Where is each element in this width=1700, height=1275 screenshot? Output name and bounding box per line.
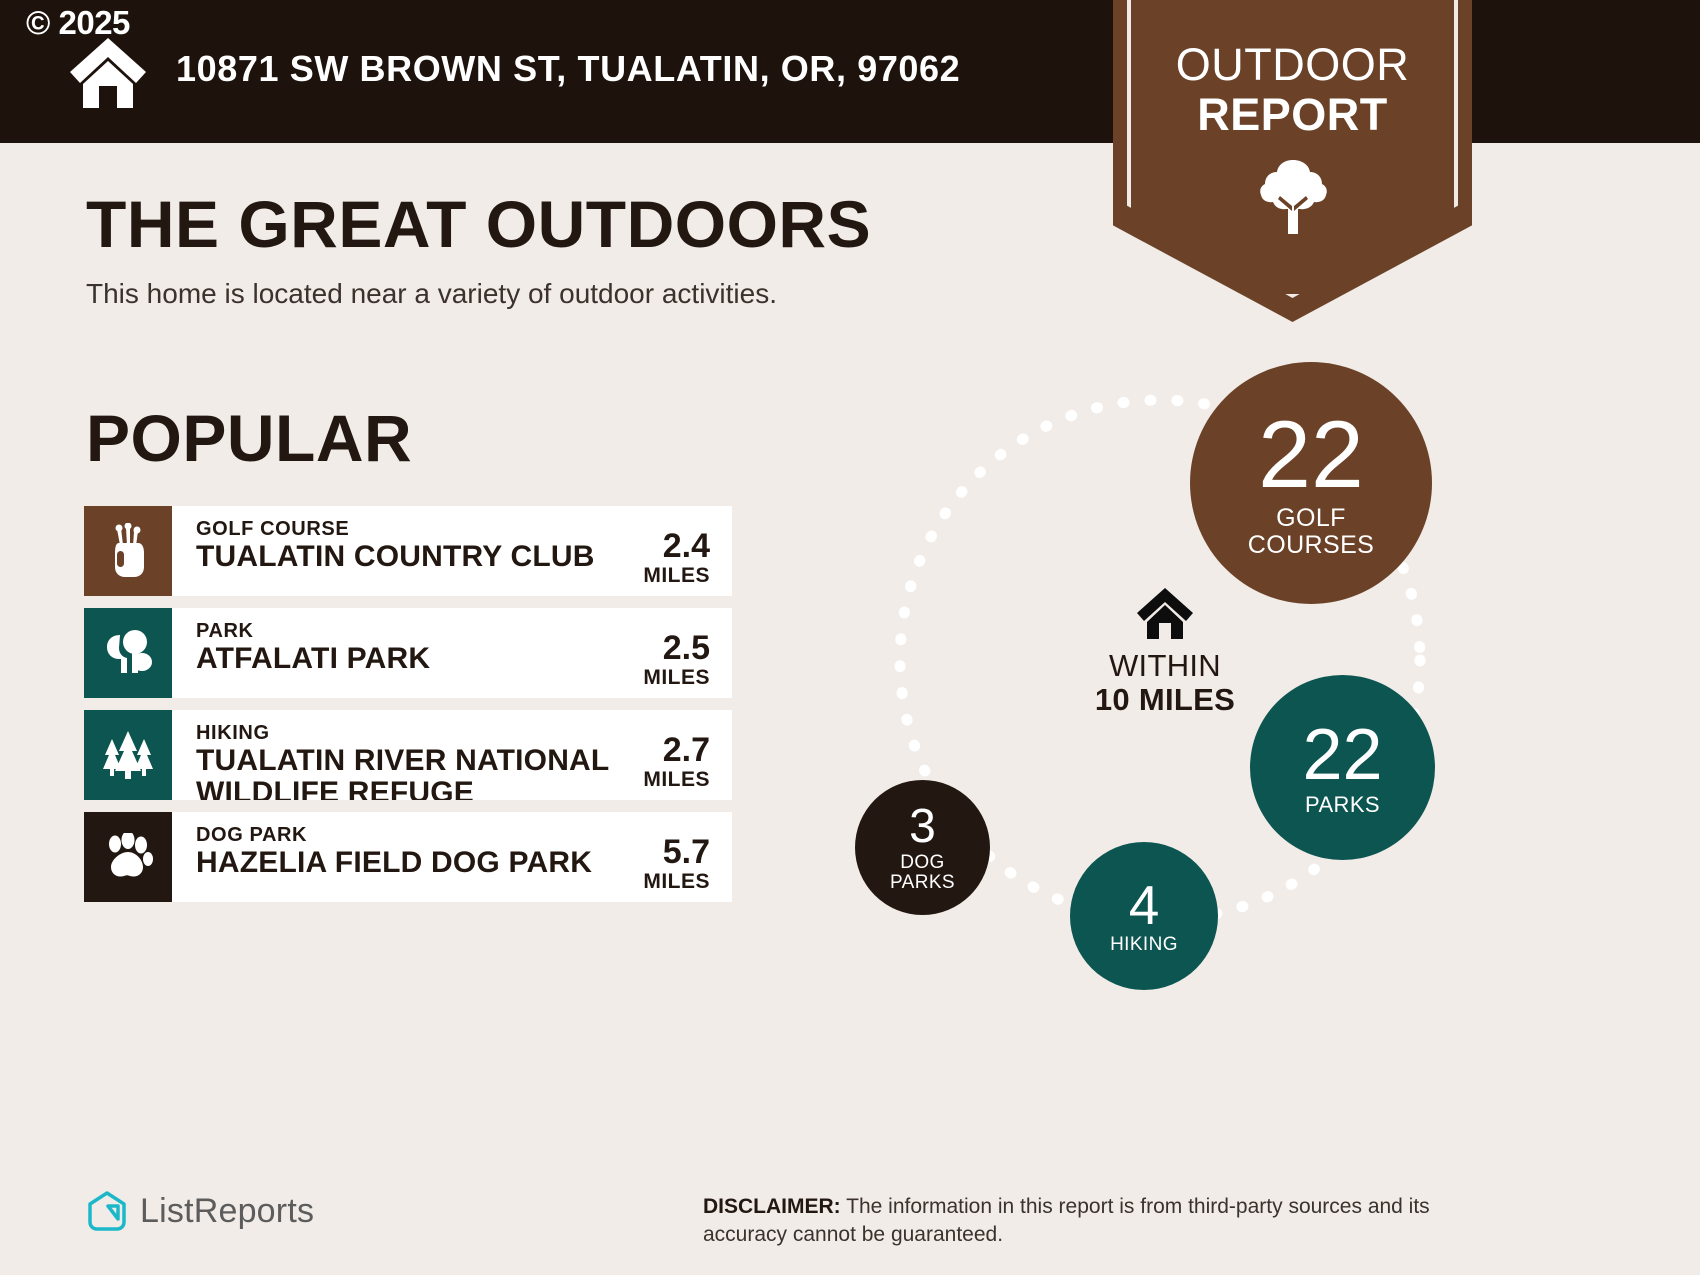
bubble-count: 3 [909,803,936,851]
poi-distance: 2.5 MILES [622,608,732,698]
poi-distance-value: 2.4 [622,528,710,564]
poi-distance-unit: MILES [622,870,710,894]
page-subtitle: This home is located near a variety of o… [86,278,777,310]
bubble-label: HIKING [1110,935,1178,955]
badge-line-1: OUTDOOR [1113,40,1472,90]
listreports-wordmark: ListReports [140,1192,314,1231]
bubble-count: 4 [1129,878,1160,933]
poi-distance-value: 2.7 [622,732,710,768]
listreports-logo[interactable]: ListReports [86,1190,314,1232]
poi-text: PARK ATFALATI PARK [172,608,622,698]
poi-distance-value: 2.5 [622,630,710,666]
bubble-label: GOLF COURSES [1248,505,1374,558]
amenities-bubble-diagram: 22 GOLF COURSES 22 PARKS 4 HIKING 3 DOG … [820,330,1500,1010]
bubble-label-line1: GOLF [1248,505,1374,531]
poi-category: PARK [196,619,622,643]
poi-distance: 2.4 MILES [622,506,732,596]
bubble-label-line1: DOG [890,853,955,873]
property-address: 10871 SW BROWN ST, TUALATIN, OR, 97062 [176,48,960,90]
diagram-center: WITHIN 10 MILES [1090,585,1240,717]
poi-text: GOLF COURSE TUALATIN COUNTRY CLUB [172,506,622,596]
golf-bag-icon [84,506,172,596]
center-label-line2: 10 MILES [1090,683,1240,717]
poi-category: GOLF COURSE [196,517,622,541]
bubble-golf-courses[interactable]: 22 GOLF COURSES [1190,362,1432,604]
home-icon [1090,585,1240,641]
park-trees-icon [84,608,172,698]
paw-print-icon [84,812,172,902]
poi-distance-unit: MILES [622,666,710,690]
bubble-count: 22 [1258,408,1364,503]
badge-line-2: REPORT [1113,90,1472,140]
popular-poi-list: GOLF COURSE TUALATIN COUNTRY CLUB 2.4 MI… [84,506,732,914]
bubble-parks[interactable]: 22 PARKS [1250,675,1435,860]
poi-distance-unit: MILES [622,564,710,588]
popular-section-title: POPULAR [86,400,412,476]
bubble-count: 22 [1302,719,1382,791]
poi-name: TUALATIN RIVER NATIONAL WILDLIFE REFUGE [196,745,622,800]
table-row[interactable]: HIKING TUALATIN RIVER NATIONAL WILDLIFE … [84,710,732,800]
home-icon [66,34,150,110]
disclaimer: DISCLAIMER: The information in this repo… [703,1193,1493,1249]
disclaimer-label: DISCLAIMER: [703,1195,841,1218]
tree-icon [1258,158,1328,236]
table-row[interactable]: GOLF COURSE TUALATIN COUNTRY CLUB 2.4 MI… [84,506,732,596]
poi-name: HAZELIA FIELD DOG PARK [196,847,622,879]
bubble-label-line2: COURSES [1248,532,1374,558]
table-row[interactable]: DOG PARK HAZELIA FIELD DOG PARK 5.7 MILE… [84,812,732,902]
bubble-label: PARKS [1305,793,1380,816]
poi-distance-value: 5.7 [622,834,710,870]
bubble-dog-parks[interactable]: 3 DOG PARKS [855,780,990,915]
poi-text: HIKING TUALATIN RIVER NATIONAL WILDLIFE … [172,710,622,800]
poi-distance: 2.7 MILES [622,710,732,800]
bubble-label: DOG PARKS [890,853,955,893]
page-title: THE GREAT OUTDOORS [86,186,871,262]
poi-distance-unit: MILES [622,768,710,792]
poi-distance: 5.7 MILES [622,812,732,902]
bubble-label-line2: PARKS [890,873,955,893]
poi-category: DOG PARK [196,823,622,847]
poi-category: HIKING [196,721,622,745]
pine-trees-icon [84,710,172,800]
poi-text: DOG PARK HAZELIA FIELD DOG PARK [172,812,622,902]
bubble-hiking[interactable]: 4 HIKING [1070,842,1218,990]
poi-name: TUALATIN COUNTRY CLUB [196,541,622,573]
center-label-line1: WITHIN [1090,649,1240,683]
outdoor-report-page: © 2025 10871 SW BROWN ST, TUALATIN, OR, … [0,0,1700,1275]
listreports-house-icon [86,1190,128,1232]
poi-name: ATFALATI PARK [196,643,622,675]
table-row[interactable]: PARK ATFALATI PARK 2.5 MILES [84,608,732,698]
badge-text: OUTDOOR REPORT [1113,40,1472,140]
